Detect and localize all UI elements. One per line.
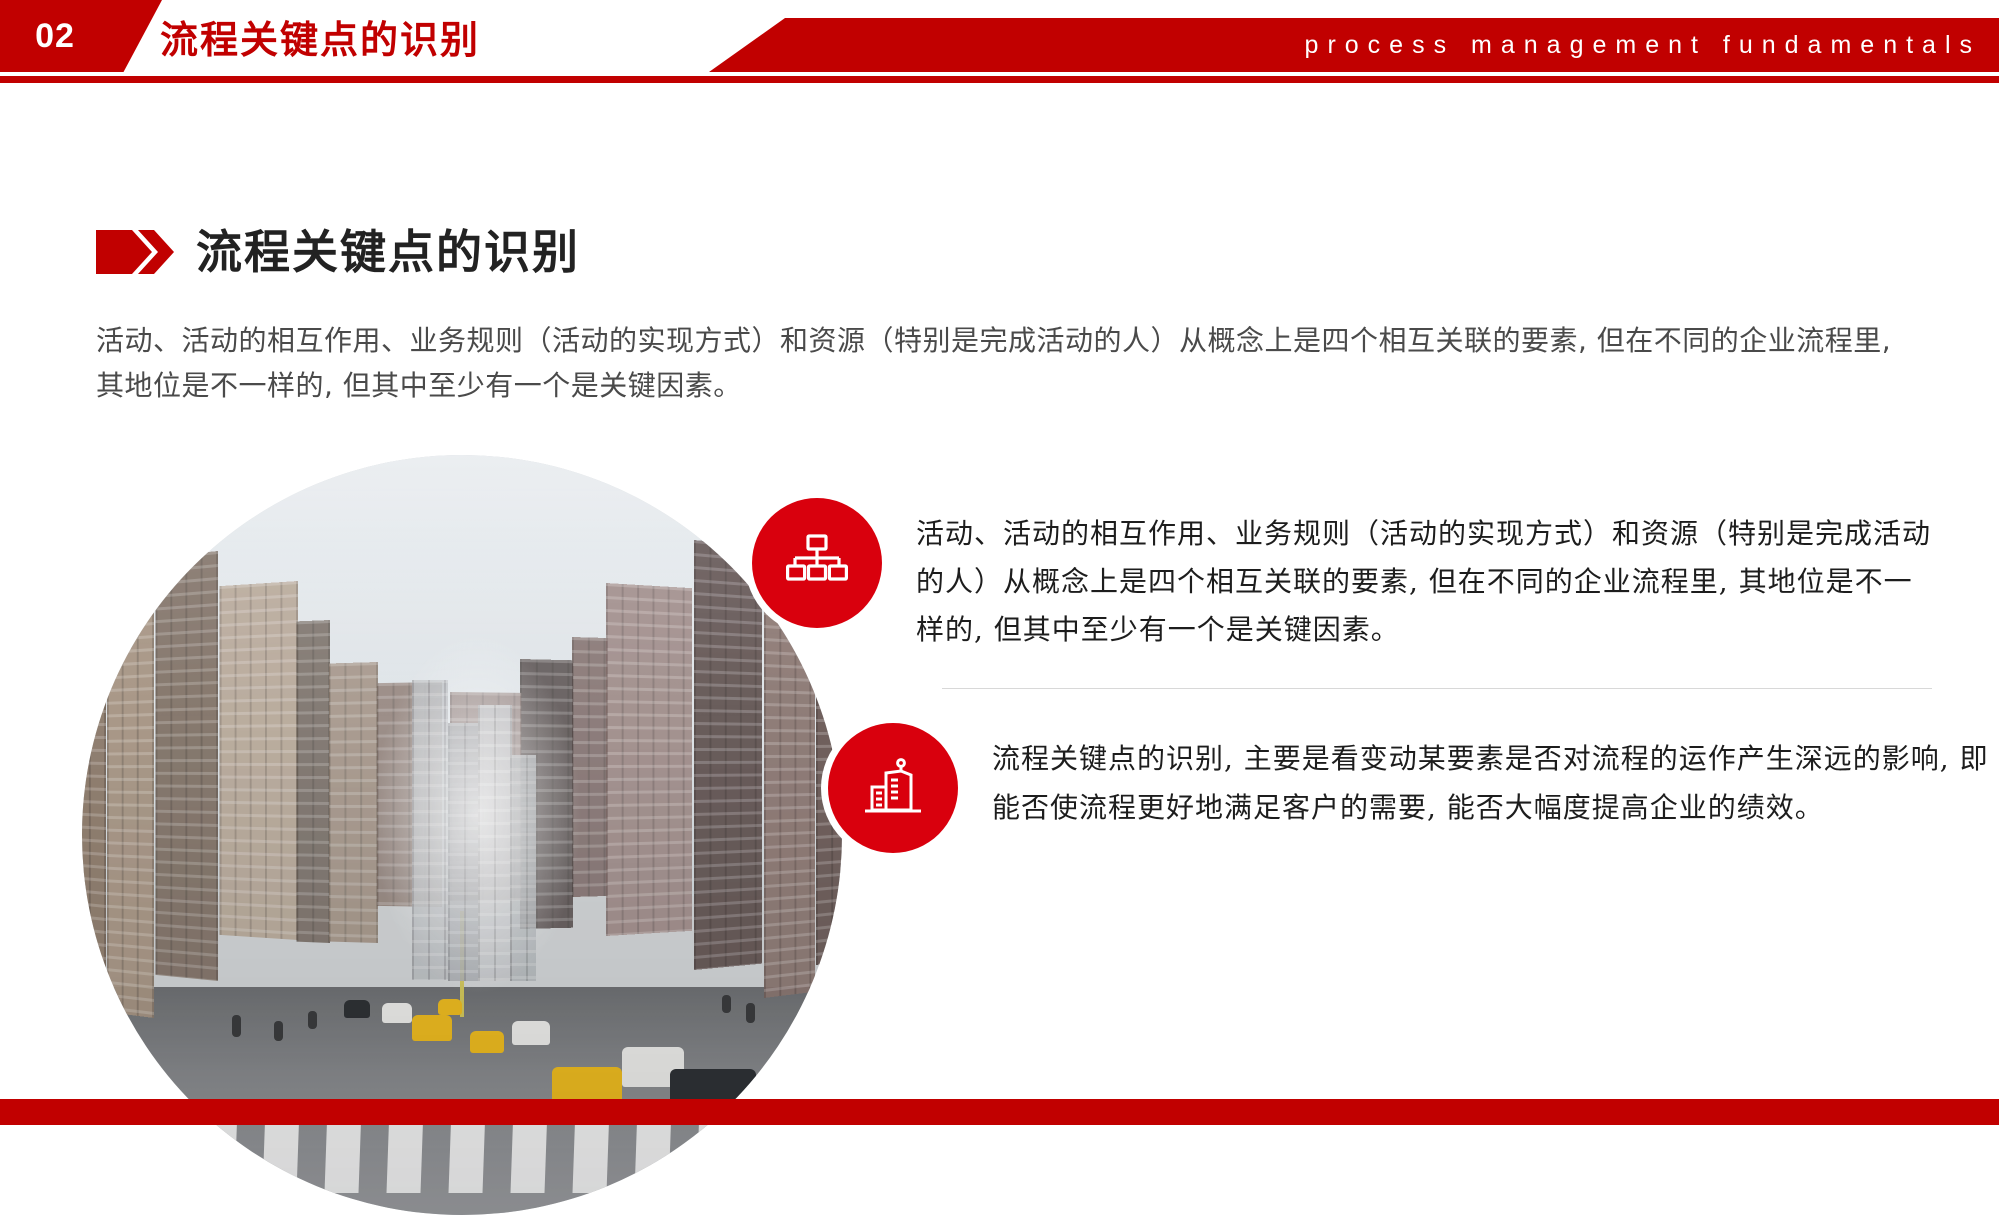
list-item-text: 活动、活动的相互作用、业务规则（活动的实现方式）和资源（特别是完成活动的人）从概… bbox=[916, 498, 1932, 654]
footer-rule bbox=[0, 1099, 1999, 1125]
page-header: 02 流程关键点的识别 process management fundament… bbox=[0, 0, 1999, 72]
photo-building-right bbox=[606, 583, 692, 936]
photo-car bbox=[412, 1015, 452, 1041]
bullet-divider bbox=[942, 688, 1932, 689]
buildings-icon bbox=[828, 723, 958, 853]
header-section-number: 02 bbox=[0, 0, 110, 72]
photo-pedestrian bbox=[274, 1021, 283, 1041]
photo-pedestrian bbox=[232, 1015, 241, 1037]
photo-car bbox=[438, 999, 462, 1015]
header-rule bbox=[0, 76, 1999, 83]
photo-building-left bbox=[82, 489, 106, 968]
photo-pedestrian bbox=[308, 1011, 317, 1029]
photo-building-left bbox=[297, 620, 330, 943]
section-heading: 流程关键点的识别 bbox=[96, 228, 580, 276]
photo-haze bbox=[372, 635, 582, 995]
photo-car bbox=[382, 1003, 412, 1023]
page-title: 流程关键点的识别 bbox=[196, 229, 580, 275]
photo-car bbox=[470, 1031, 504, 1053]
double-chevron-icon bbox=[96, 228, 174, 276]
intro-paragraph: 活动、活动的相互作用、业务规则（活动的实现方式）和资源（特别是完成活动的人）从概… bbox=[96, 318, 1916, 409]
photo-pedestrian bbox=[722, 995, 731, 1013]
list-item: 流程关键点的识别, 主要是看变动某要素是否对流程的运作产生深远的影响, 即能否使… bbox=[828, 723, 1932, 853]
photo-building-left bbox=[220, 581, 298, 940]
header-band-text: process management fundamentals bbox=[1305, 18, 1981, 72]
photo-building-left bbox=[156, 551, 218, 981]
photo-building-left bbox=[329, 662, 378, 943]
photo-car bbox=[512, 1021, 550, 1045]
list-item-text: 流程关键点的识别, 主要是看变动某要素是否对流程的运作产生深远的影响, 即能否使… bbox=[992, 723, 1999, 831]
list-item: 活动、活动的相互作用、业务规则（活动的实现方式）和资源（特别是完成活动的人）从概… bbox=[752, 498, 1932, 654]
bullet-list: 活动、活动的相互作用、业务规则（活动的实现方式）和资源（特别是完成活动的人）从概… bbox=[752, 498, 1932, 853]
photo-car bbox=[344, 1000, 370, 1018]
org-chart-icon bbox=[752, 498, 882, 628]
photo-building-left bbox=[107, 531, 154, 1018]
photo-pedestrian bbox=[746, 1003, 755, 1023]
header-title: 流程关键点的识别 bbox=[160, 0, 480, 72]
